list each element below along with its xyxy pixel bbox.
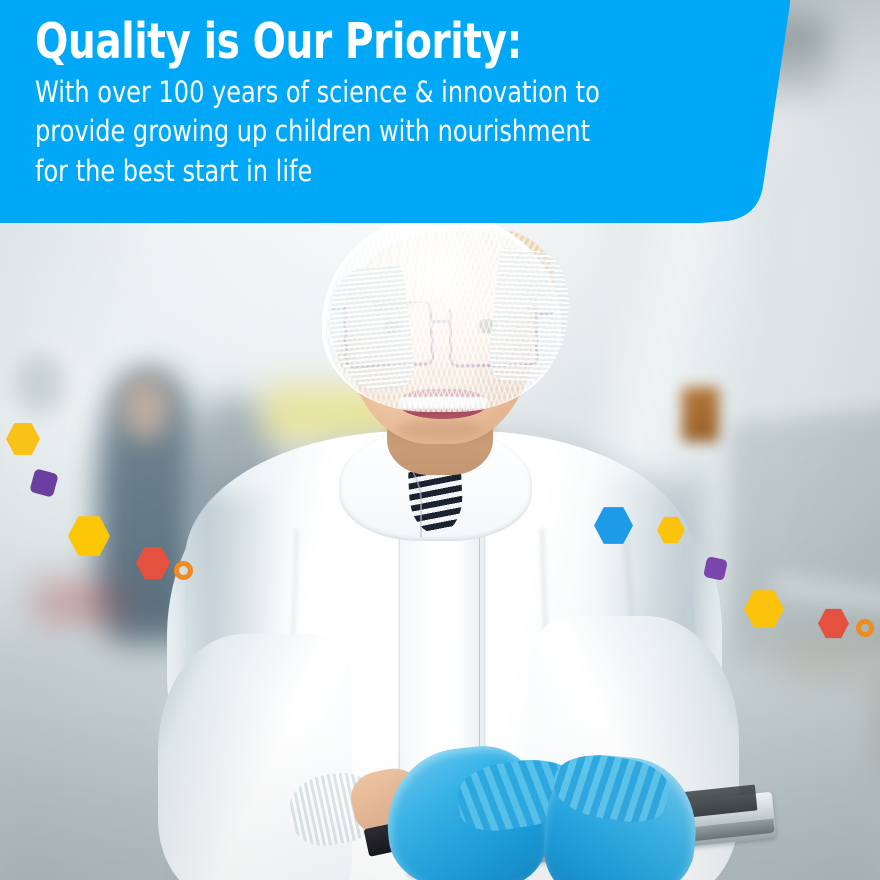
page-title: Quality is Our Priority: <box>35 16 619 68</box>
subtitle-line-1: With over 100 years of science & innovat… <box>35 73 773 113</box>
header-banner-text: Quality is Our Priority: With over 100 y… <box>35 16 765 191</box>
poster: Quality is Our Priority: With over 100 y… <box>0 0 880 880</box>
page-subtitle: With over 100 years of science & innovat… <box>35 73 773 192</box>
header-banner: Quality is Our Priority: With over 100 y… <box>0 0 790 223</box>
subtitle-line-2: provide growing up children with nourish… <box>35 112 773 152</box>
subtitle-line-3: for the best start in life <box>35 152 773 192</box>
